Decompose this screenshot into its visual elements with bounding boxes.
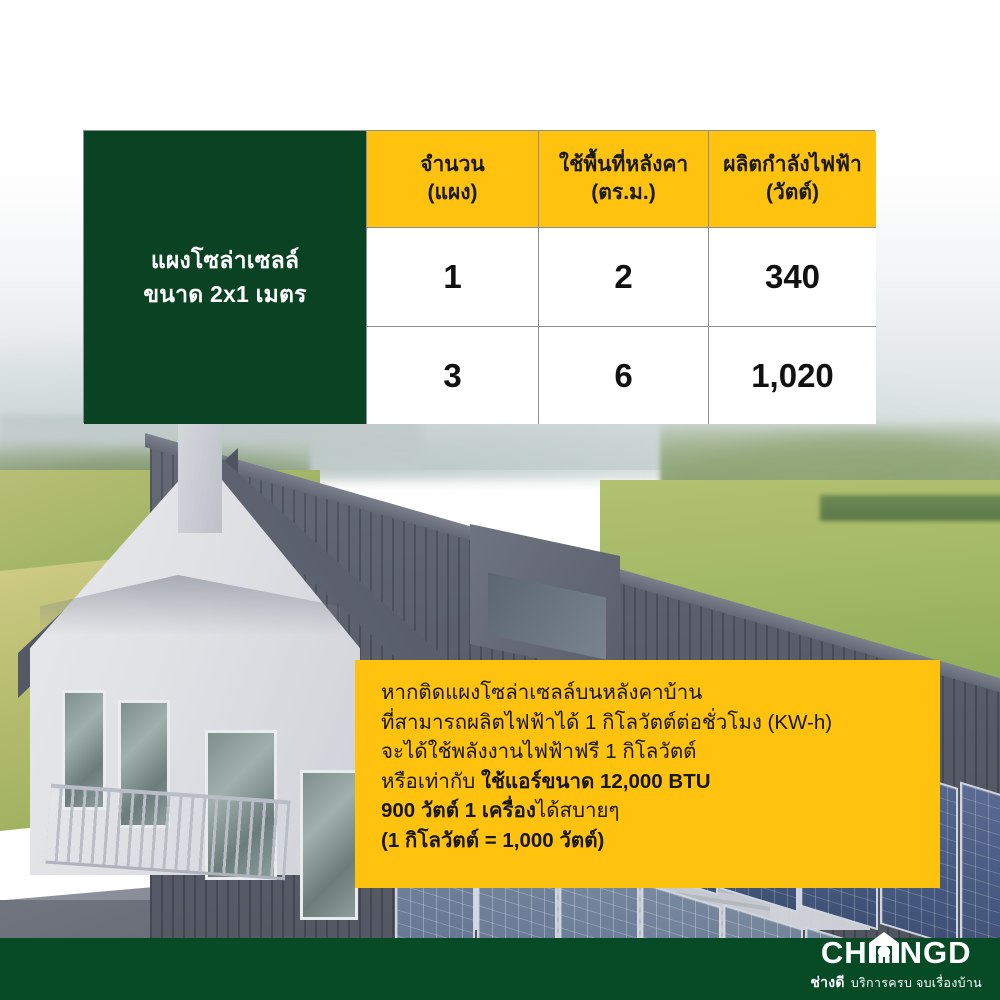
callout-line-2: ที่สามารถผลิตไฟฟ้าได้ 1 กิโลวัตต์ต่อชั่ว…: [381, 708, 914, 738]
table-header-power-unit: (วัตต์): [766, 179, 819, 207]
brand-tagline-name: ช่างดี: [810, 972, 845, 994]
table-cell-count-row2: 3: [366, 326, 538, 424]
table-header-roof-area: ใช้พื้นที่หลังคา (ตร.ม.): [538, 131, 708, 228]
solar-panel-spec-table: แผงโซล่าเซลล์ ขนาด 2x1 เมตร จำนวน (แผง) …: [83, 130, 875, 423]
callout-line-1: หากติดแผงโซล่าเซลล์บนหลังคาบ้าน: [381, 678, 914, 708]
brand-logo: CH NG D ช่างดี บริการครบ จบเรื่องบ้าน: [810, 932, 982, 994]
table-row-label-line2: ขนาด 2x1 เมตร: [143, 278, 306, 311]
brand-wordmark-part2: NG: [900, 937, 949, 968]
callout-line-5-bold: 900 วัตต์ 1 เครื่อง: [381, 799, 536, 822]
callout-line-6: (1 กิโลวัตต์ = 1,000 วัตต์): [381, 826, 914, 856]
table-header-power-line1: ผลิตกำลังไฟฟ้า: [723, 151, 862, 179]
table-row-label: แผงโซล่าเซลล์ ขนาด 2x1 เมตร: [84, 131, 366, 424]
table-row-label-line1: แผงโซล่าเซลล์: [151, 244, 299, 277]
table-header-count-unit: (แผง): [427, 179, 477, 207]
table-header-roof-area-unit: (ตร.ม.): [591, 179, 655, 207]
table-cell-watts-row2: 1,020: [708, 326, 876, 424]
brand-wordmark: CH NG D: [821, 932, 972, 968]
house-icon: [869, 932, 899, 968]
callout-line-4: หรือเท่ากับ ใช้แอร์ขนาด 12,000 BTU: [381, 767, 914, 797]
table-cell-area-row1: 2: [538, 228, 708, 326]
table-header-roof-area-line1: ใช้พื้นที่หลังคา: [559, 151, 688, 179]
table-cell-count-row1: 1: [366, 228, 538, 326]
window: [300, 770, 358, 920]
callout-line-3: จะได้ใช้พลังงานไฟฟ้าฟรี 1 กิโลวัตต์: [381, 737, 914, 767]
callout-line-5-plain: ได้สบายๆ: [536, 799, 620, 822]
table-header-count: จำนวน (แผง): [366, 131, 538, 228]
callout-line-5: 900 วัตต์ 1 เครื่องได้สบายๆ: [381, 796, 914, 826]
table-header-power: ผลิตกำลังไฟฟ้า (วัตต์): [708, 131, 876, 228]
callout-line-4-plain: หรือเท่ากับ: [381, 770, 481, 793]
table-header-count-line1: จำนวน: [420, 151, 485, 179]
brand-tagline-text: บริการครบ จบเรื่องบ้าน: [851, 973, 982, 993]
brand-wordmark-part3: D: [948, 937, 971, 968]
chimney: [178, 418, 222, 533]
balcony-railing: [46, 784, 291, 881]
brand-tagline: ช่างดี บริการครบ จบเรื่องบ้าน: [810, 972, 982, 994]
brand-wordmark-part1: CH: [821, 937, 868, 968]
table-cell-area-row2: 6: [538, 326, 708, 424]
table-cell-watts-row1: 340: [708, 228, 876, 326]
info-callout-box: หากติดแผงโซล่าเซลล์บนหลังคาบ้าน ที่สามาร…: [355, 660, 940, 888]
callout-line-4-bold: ใช้แอร์ขนาด 12,000 BTU: [481, 770, 711, 793]
footer-bar: CH NG D ช่างดี บริการครบ จบเรื่องบ้าน: [0, 938, 1000, 1000]
